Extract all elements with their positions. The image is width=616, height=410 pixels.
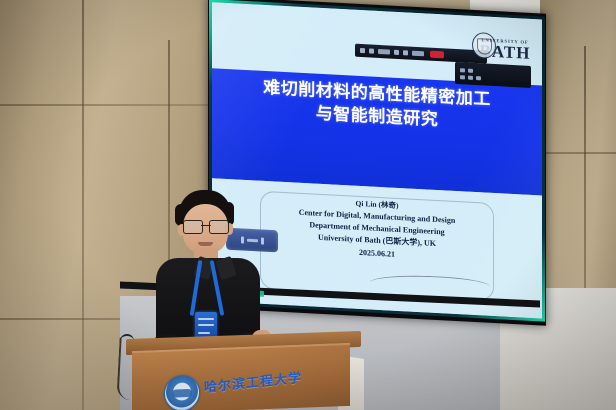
- record-indicator-icon: [430, 51, 444, 59]
- podium-university-name: 哈尔滨工程大学: [204, 363, 344, 396]
- lectern-podium: 哈尔滨工程大学: [126, 335, 361, 410]
- university-of-bath-logo: UNIVERSITY OF BATH: [474, 24, 536, 75]
- presentation-photo-scene: UNIVERSITY OF BATH 难切削材料的高性能精密加工 与智能制造研究…: [0, 0, 616, 410]
- glasses-icon: [182, 220, 230, 232]
- podium-front-face: 哈尔滨工程大学: [132, 343, 350, 410]
- bath-crest-icon: [472, 32, 496, 59]
- speaker-mouth: [198, 242, 213, 246]
- university-seal-icon: [164, 375, 200, 410]
